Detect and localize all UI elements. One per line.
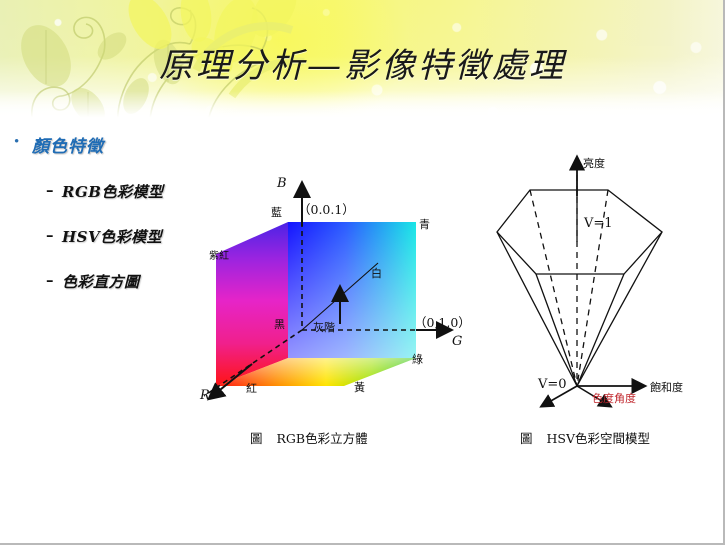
bullet-label-hsv-model: HSV色彩模型 — [62, 226, 162, 247]
banner-bottom-fade — [0, 91, 725, 125]
figure-caption-rgb: 圖RGB色彩立方體 — [250, 428, 368, 447]
bullet-dot-icon: • — [14, 132, 32, 152]
dash-marker-icon: – — [46, 271, 62, 289]
label-value-axis: 亮度 — [583, 155, 605, 171]
dash-marker-icon: – — [46, 181, 62, 199]
slide-canvas: 原理分析—影像特徵處理 • 顏色特徵 – RGB色彩模型 – HSV色彩模型 –… — [0, 0, 725, 545]
caption-word: 圖 — [250, 431, 263, 446]
axis-label-b: B — [277, 176, 287, 191]
hexcone-side-edges — [497, 232, 662, 386]
label-coord-blue: （0.0.1） — [298, 199, 355, 218]
caption-text: HSV色彩空間模型 — [547, 431, 651, 446]
bullet-label-color-histogram: 色彩直方圖 — [62, 271, 140, 292]
label-cyan-vertex: 青 — [419, 216, 430, 232]
hexcone-hidden-edges — [530, 164, 608, 386]
caption-text: RGB色彩立方體 — [277, 431, 368, 446]
cube-top-face — [288, 222, 416, 358]
label-black-vertex: 黑 — [274, 316, 285, 332]
figure-caption-hsv: 圖HSV色彩空間模型 — [520, 428, 650, 447]
label-magenta-vertex: 紫紅 — [209, 247, 229, 262]
bullet-label-color-feature: 顏色特徵 — [32, 132, 104, 157]
hsv-cone-figure — [458, 152, 708, 412]
label-grayscale-axis: 灰階 — [313, 319, 335, 335]
bullet-label-rgb-model: RGB色彩模型 — [62, 181, 163, 202]
label-white-vertex: 白 — [371, 265, 382, 281]
label-hue-axis: 色度角度 — [592, 390, 636, 406]
hexcone-top-face — [497, 190, 662, 274]
label-blue-vertex: 藍 — [271, 204, 282, 220]
label-saturation-axis: 飽和度 — [650, 379, 683, 395]
axis-label-r: R — [200, 388, 210, 403]
page-title: 原理分析—影像特徵處理 — [0, 38, 725, 87]
label-v-min: V=0 — [538, 377, 567, 392]
dash-marker-icon: – — [46, 226, 62, 244]
label-red-vertex: 紅 — [246, 380, 257, 396]
caption-word: 圖 — [520, 431, 533, 446]
label-green-vertex: 綠 — [412, 351, 423, 367]
label-v-max: V=1 — [584, 216, 613, 231]
label-yellow-vertex: 黃 — [354, 379, 365, 395]
bullet-item-color-feature: • 顏色特徵 — [0, 132, 250, 157]
